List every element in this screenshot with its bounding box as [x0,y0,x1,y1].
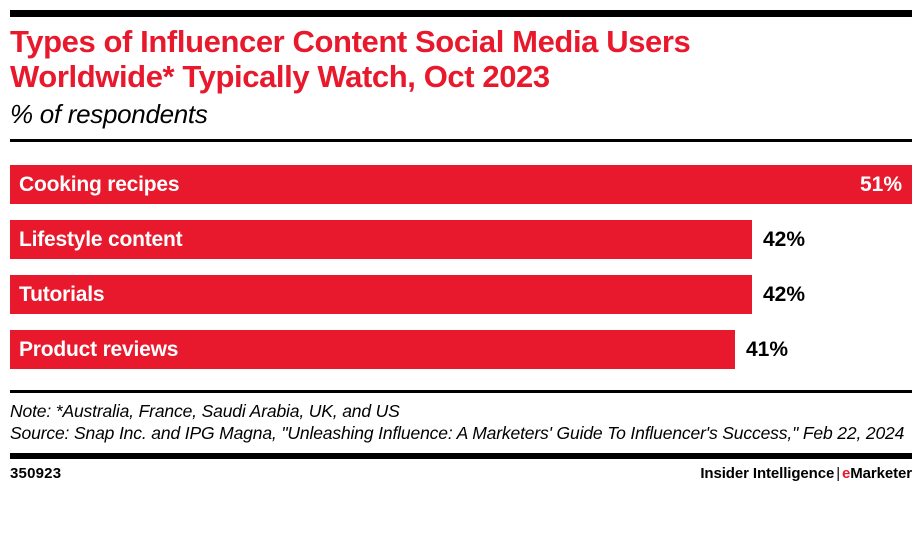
bar-row: Tutorials 42% [10,275,912,314]
bar-value-label: 51% [846,173,902,197]
notes-rule-wrapper [10,369,912,393]
bar-value-label: 42% [752,275,805,314]
brand-separator: | [834,465,842,482]
header-rule-wrapper [10,130,912,142]
brand-lockup: Insider Intelligence|eMarketer [700,465,912,482]
chart-header: Types of Influencer Content Social Media… [10,17,912,130]
chart-id: 350923 [10,465,61,482]
bar-row: Lifestyle content 42% [10,220,912,259]
bar-label: Lifestyle content [19,228,182,252]
note-text: Note: *Australia, France, Saudi Arabia, … [10,400,912,422]
chart-footer: 350923 Insider Intelligence|eMarketer [10,459,912,482]
brand-insider-intelligence: Insider Intelligence [700,465,834,482]
source-text: Source: Snap Inc. and IPG Magna, "Unleas… [10,422,912,444]
bar-label: Cooking recipes [19,173,179,197]
top-rule [10,10,912,17]
bar-value-label: 41% [735,330,788,369]
bar-lifestyle-content: Lifestyle content [10,220,752,259]
bar-chart: Cooking recipes 51% Lifestyle content 42… [10,142,912,369]
bar-label: Tutorials [19,283,104,307]
bar-tutorials: Tutorials [10,275,752,314]
bar-label: Product reviews [19,338,178,362]
chart-page: Types of Influencer Content Social Media… [0,10,922,554]
chart-notes: Note: *Australia, France, Saudi Arabia, … [10,393,912,444]
chart-subtitle: % of respondents [10,98,912,130]
bar-cooking-recipes: Cooking recipes 51% [10,165,912,204]
bar-row: Product reviews 41% [10,330,912,369]
bar-row: Cooking recipes 51% [10,165,912,204]
bar-value-label: 42% [752,220,805,259]
footer-rule-wrapper [10,444,912,459]
page-title: Types of Influencer Content Social Media… [10,24,912,94]
bar-product-reviews: Product reviews [10,330,735,369]
brand-emarketer: Marketer [850,465,912,482]
